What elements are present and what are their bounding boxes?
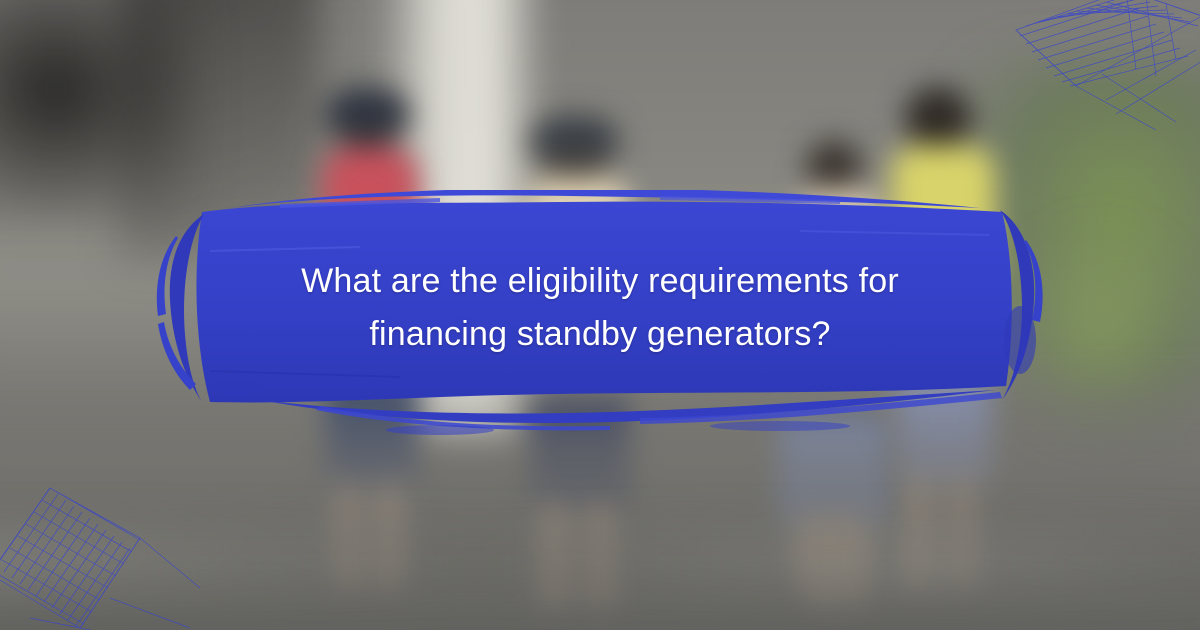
cap bbox=[324, 88, 410, 128]
cap bbox=[530, 116, 620, 154]
wire-mesh-top-right-icon bbox=[1006, 0, 1200, 140]
wire-mesh-svg bbox=[1006, 0, 1200, 140]
background-shadow-left bbox=[0, 0, 200, 220]
headline-line-2: financing standby generators? bbox=[200, 308, 1000, 361]
page-title: What are the eligibility requirements fo… bbox=[200, 255, 1000, 360]
wire-mesh-svg bbox=[0, 478, 220, 630]
head bbox=[905, 87, 971, 151]
wire-mesh-bottom-left-icon bbox=[0, 478, 220, 630]
headline-line-1: What are the eligibility requirements fo… bbox=[200, 255, 1000, 308]
